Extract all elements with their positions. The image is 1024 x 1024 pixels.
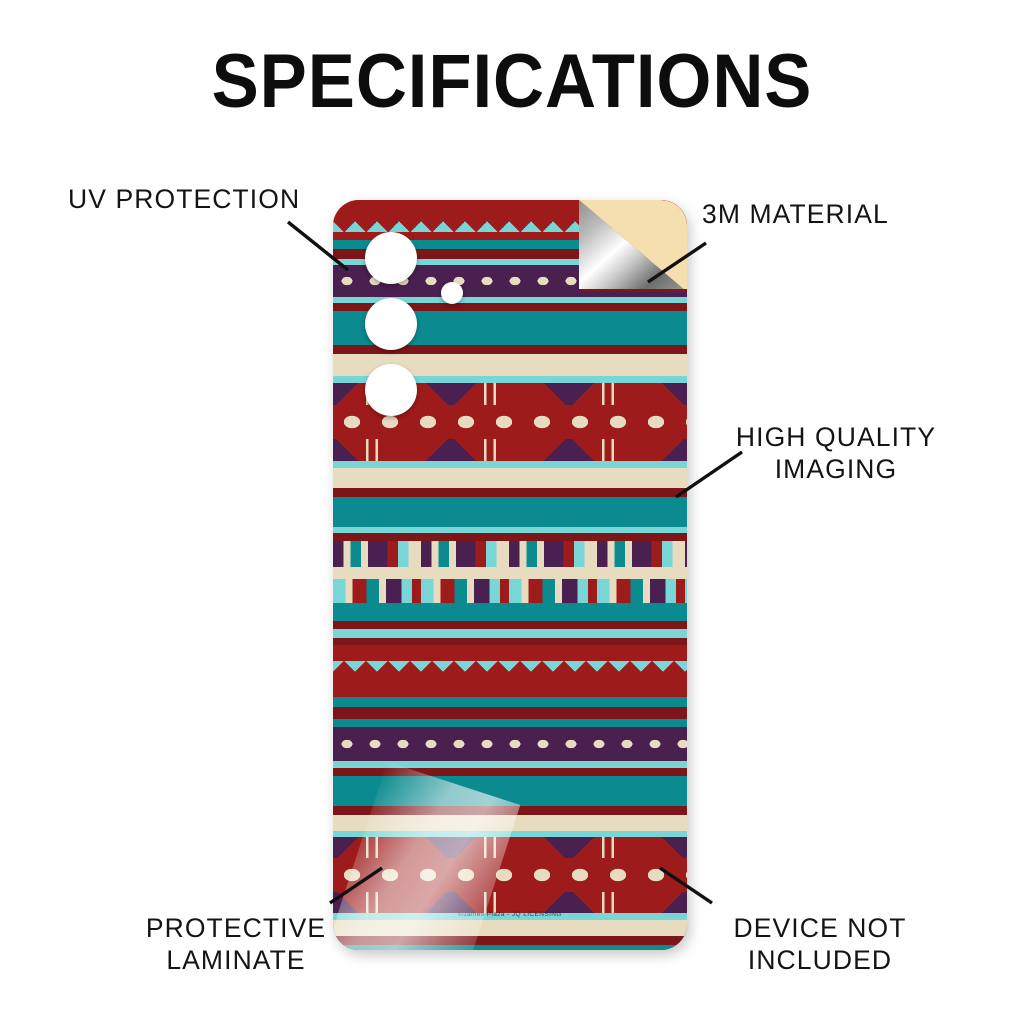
stripe-darkred [333, 936, 687, 945]
eye-motif-row-2 [333, 727, 687, 761]
peel-edge-line [579, 289, 687, 292]
callout-label-device-not-included: DEVICE NOT INCLUDED [700, 912, 940, 977]
stripe-teal [333, 603, 687, 621]
stripe-red [333, 683, 687, 697]
stripe-darkred [333, 806, 687, 815]
specifications-infographic: SPECIFICATIONS [0, 0, 1024, 1024]
stripe-cream [333, 567, 687, 579]
callout-label-uv-protection: UV PROTECTION [68, 183, 300, 215]
stripe-darkred [333, 638, 687, 645]
callout-label-high-quality-imaging: HIGH QUALITY IMAGING [718, 421, 954, 486]
stepped-band-2 [333, 579, 687, 603]
stripe-cream [333, 815, 687, 831]
flash-cutout [441, 282, 463, 304]
artwork-copyright: ©James Plaza - JQ LICENSING [333, 911, 687, 918]
stripe-teal-wide [333, 776, 687, 806]
stripe-teal [333, 697, 687, 707]
stripe-cream [333, 920, 687, 936]
stripe-darkred [333, 621, 687, 629]
stripe-darkred [333, 488, 687, 497]
camera-cutout-1 [365, 232, 417, 284]
stripe-ltteal [333, 761, 687, 768]
stripe-darkred [333, 707, 687, 719]
callout-label-3m-material: 3M MATERIAL [702, 198, 889, 230]
phone-skin-product: ©James Plaza - JQ LICENSING [333, 200, 687, 950]
stripe-darkred [333, 768, 687, 776]
diamond-row-2 [333, 858, 687, 892]
stripe-ltteal [333, 461, 687, 468]
stripe-teal [333, 497, 687, 527]
chevron-row-2 [333, 661, 687, 683]
stripe-teal [333, 719, 687, 727]
camera-cutout-2 [365, 298, 417, 350]
stripe-teal [333, 945, 687, 950]
stripe-ltteal [333, 629, 687, 638]
stepped-band-1 [333, 541, 687, 567]
page-title: SPECIFICATIONS [36, 38, 988, 125]
stripe-cream [333, 468, 687, 488]
stripe-darkred [333, 533, 687, 541]
stripe-red-wide [333, 645, 687, 661]
callout-label-protective-laminate: PROTECTIVE LAMINATE [126, 912, 346, 977]
camera-cutout-3 [365, 364, 417, 416]
peeled-corner [579, 200, 687, 292]
